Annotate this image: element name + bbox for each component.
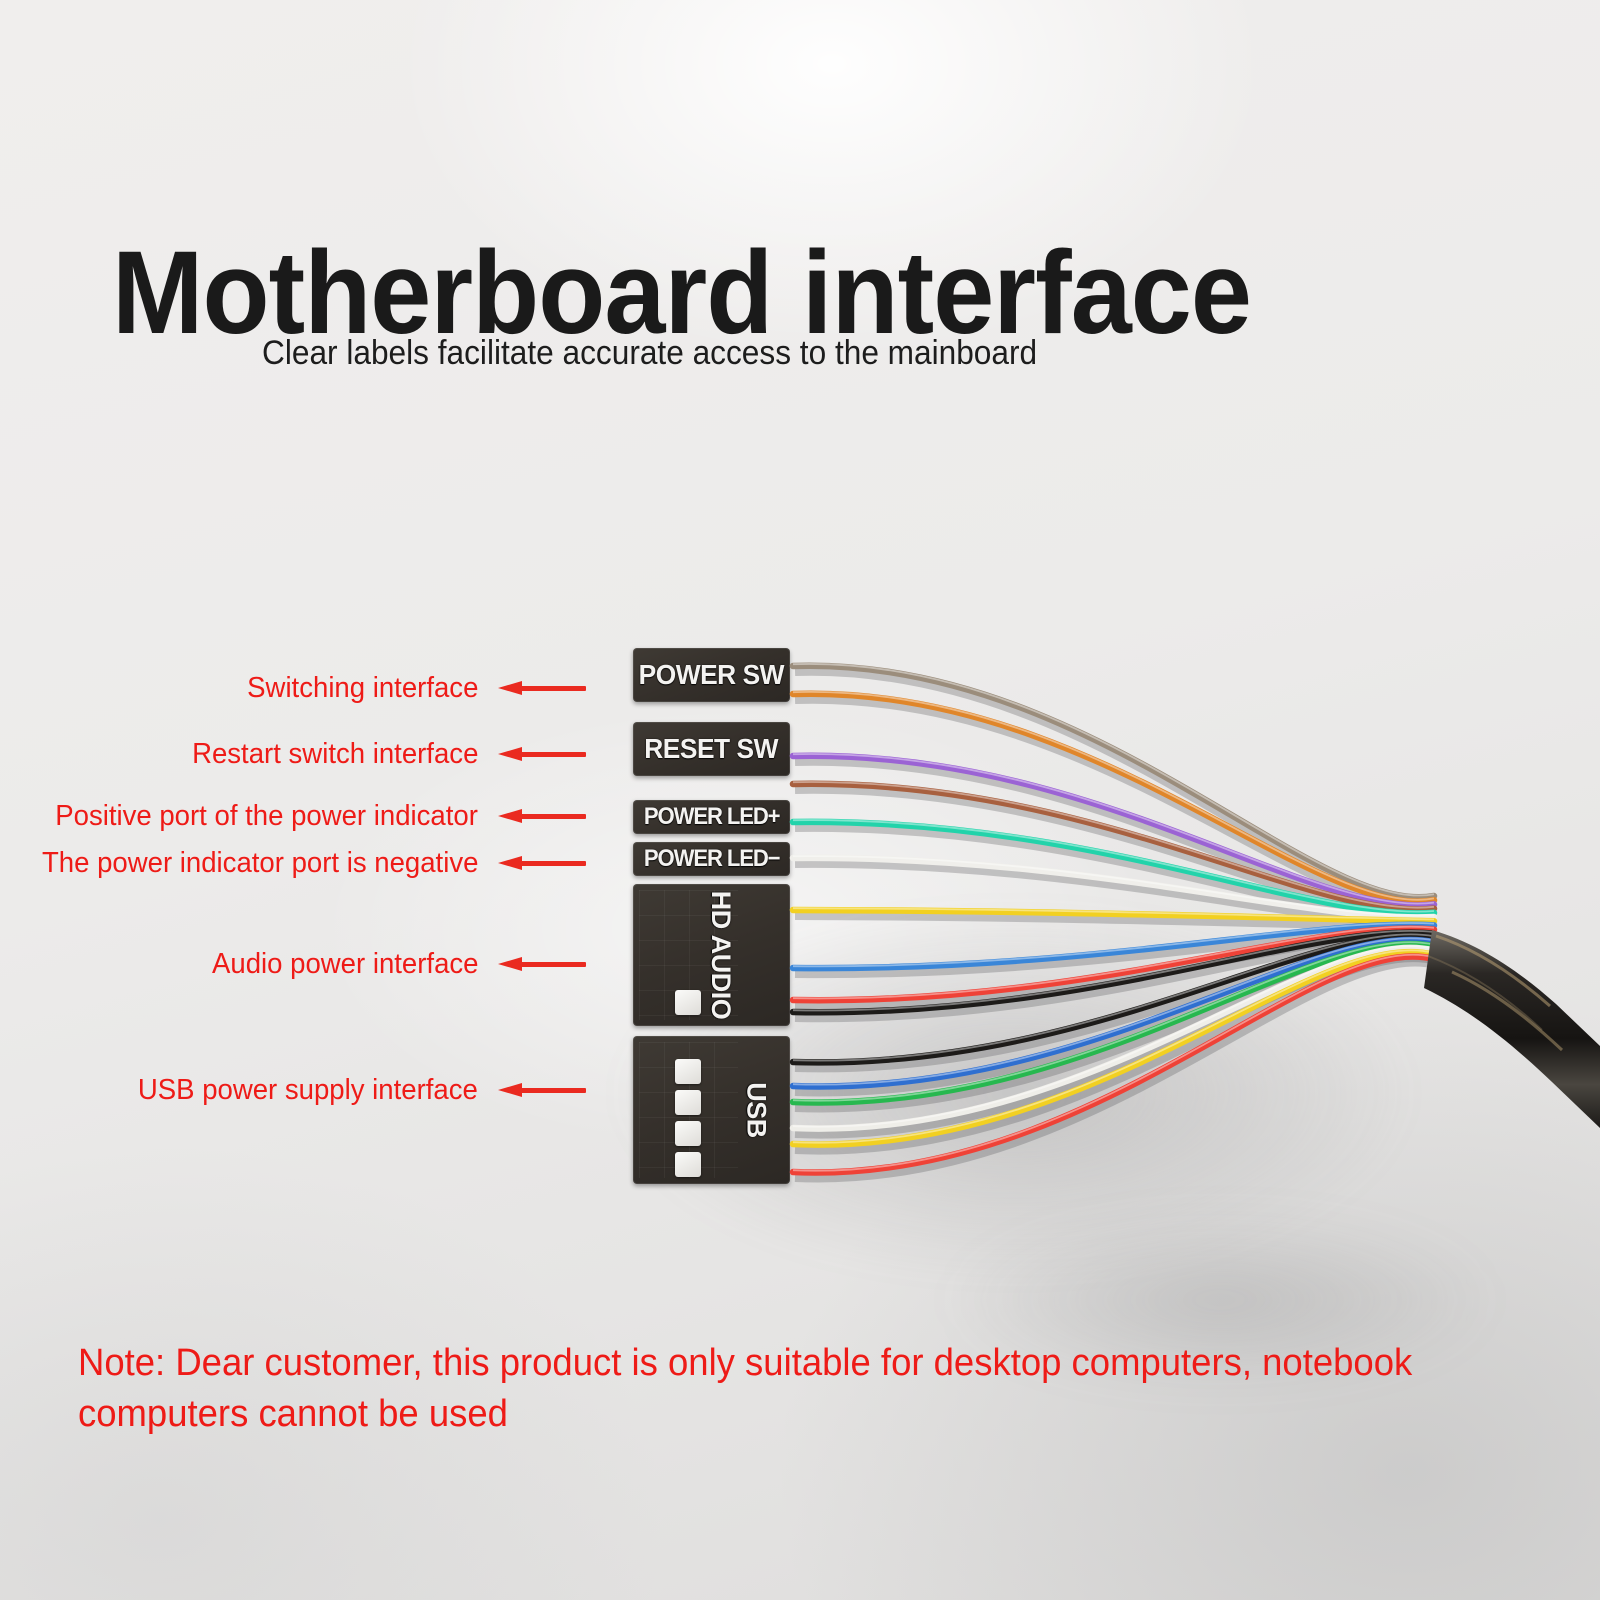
arrow-shaft <box>518 962 586 967</box>
connector-pin <box>675 1152 701 1177</box>
callout-3: The power indicator port is negative <box>0 843 586 883</box>
callout-label: Audio power interface <box>212 948 478 981</box>
left-arrow-icon <box>498 1083 586 1097</box>
callout-label: USB power supply interface <box>138 1074 478 1107</box>
connector-pin <box>675 1121 701 1146</box>
connector-pin <box>675 1090 701 1115</box>
arrow-shaft <box>518 752 586 757</box>
connector-block-power-sw: POWER SW <box>633 648 790 702</box>
left-arrow-icon <box>498 957 586 971</box>
connector-block-power-led: POWER LED− <box>633 842 790 876</box>
callout-5: USB power supply interface <box>0 1070 586 1110</box>
arrow-shaft <box>518 686 586 691</box>
left-arrow-icon <box>498 809 586 823</box>
left-arrow-icon <box>498 856 586 870</box>
connector-block-usb: USB <box>633 1036 790 1184</box>
connector-pin <box>675 990 701 1015</box>
page-subtitle: Clear labels facilitate accurate access … <box>262 334 1037 373</box>
callout-1: Restart switch interface <box>0 734 586 774</box>
arrow-shaft <box>518 814 586 819</box>
arrow-shaft <box>518 1088 586 1093</box>
connector-pin <box>675 1059 701 1084</box>
connector-block-hd-audio: HD AUDIO <box>633 884 790 1026</box>
connector-label: RESET SW <box>645 733 779 765</box>
callout-label: The power indicator port is negative <box>42 847 478 880</box>
callout-4: Audio power interface <box>0 944 586 984</box>
callout-label: Positive port of the power indicator <box>55 800 478 833</box>
connector-block-power-led: POWER LED+ <box>633 800 790 834</box>
footer-note: Note: Dear customer, this product is onl… <box>78 1338 1441 1440</box>
connector-block-reset-sw: RESET SW <box>633 722 790 776</box>
callout-label: Switching interface <box>247 672 478 705</box>
arrow-shaft <box>518 861 586 866</box>
callout-0: Switching interface <box>0 668 586 708</box>
callout-label: Restart switch interface <box>192 738 478 771</box>
connector-label: POWER SW <box>639 659 784 691</box>
left-arrow-icon <box>498 747 586 761</box>
connector-label: USB <box>741 1082 772 1138</box>
left-arrow-icon <box>498 681 586 695</box>
connector-label: HD AUDIO <box>704 891 735 1020</box>
connector-label: POWER LED− <box>644 845 780 873</box>
connector-label: POWER LED+ <box>644 803 780 831</box>
callout-2: Positive port of the power indicator <box>0 796 586 836</box>
